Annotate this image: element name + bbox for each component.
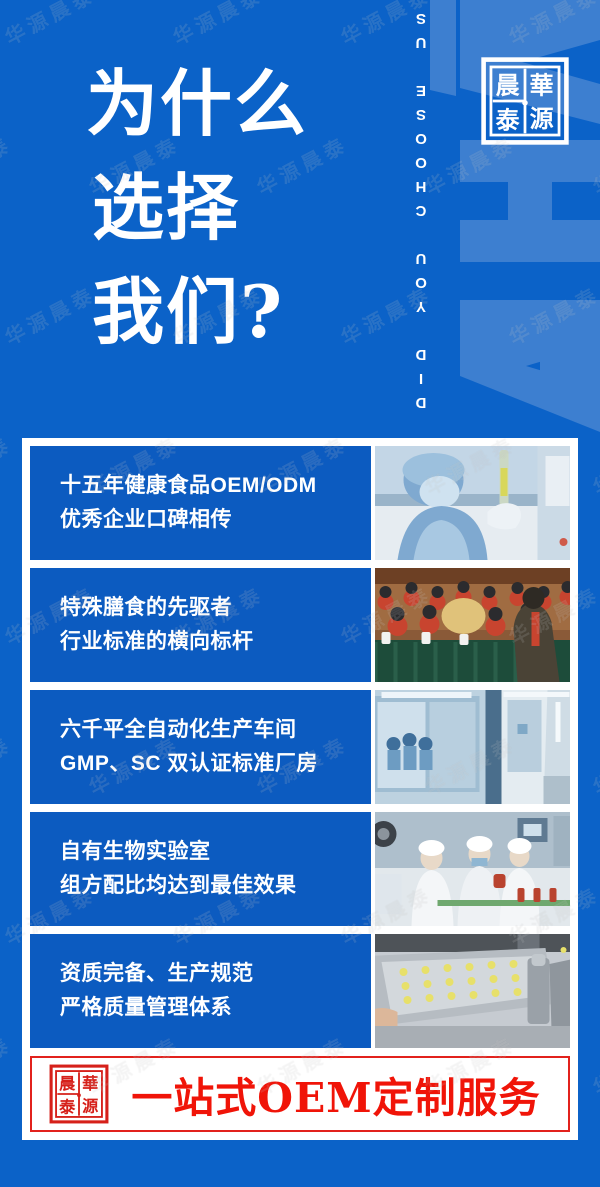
feature-row: 资质完备、生产规范 严格质量管理体系 [30, 934, 570, 1048]
watermark-text: 华源晨泰 [0, 428, 17, 501]
watermark-text: 华源晨泰 [587, 1028, 600, 1101]
feature-photo-lab-staff-packaging [375, 812, 570, 926]
page-title: 为什么 选择 我们? [86, 52, 406, 364]
feature-row: 特殊膳食的先驱者 行业标准的横向标杆 [30, 568, 570, 682]
poster-root: 为什么 选择 我们? DID YOU CHOOSE US 華 源 晨 泰 [0, 0, 600, 1187]
feature-row: 自有生物实验室 组方配比均达到最佳效果 [30, 812, 570, 926]
poster-header: 为什么 选择 我们? DID YOU CHOOSE US 華 源 晨 泰 [0, 0, 600, 438]
watermark-text: 华源晨泰 [587, 428, 600, 501]
watermark-text: 华源晨泰 [0, 1178, 101, 1187]
feature-row: 十五年健康食品OEM/ODM 优秀企业口碑相传 [30, 446, 570, 560]
company-seal-icon: 華 源 晨 泰 [479, 55, 571, 147]
feature-text-5: 资质完备、生产规范 严格质量管理体系 [30, 934, 371, 1048]
feature-photo-lab-technician [375, 446, 570, 560]
feature-line: 组方配比均达到最佳效果 [60, 869, 371, 903]
svg-text:泰: 泰 [496, 107, 521, 135]
feature-line: 十五年健康食品OEM/ODM [60, 469, 371, 503]
cta-banner-text: 一站式OEM定制服务 [110, 1064, 568, 1124]
feature-line: 严格质量管理体系 [60, 991, 371, 1025]
feature-line: GMP、SC 双认证标准厂房 [60, 747, 371, 781]
features-frame: 十五年健康食品OEM/ODM 优秀企业口碑相传 [22, 438, 578, 1140]
vertical-tagline: DID YOU CHOOSE US [404, 18, 438, 396]
feature-photo-blister-packing-machine [375, 934, 570, 1048]
headline-line-3: 我们? [86, 260, 406, 364]
feature-photo-conference-audience [375, 568, 570, 682]
feature-line: 行业标准的横向标杆 [60, 625, 371, 659]
svg-text:華: 華 [530, 72, 554, 100]
svg-text:源: 源 [82, 1096, 98, 1115]
svg-text:晨: 晨 [59, 1074, 76, 1093]
svg-text:華: 華 [82, 1074, 98, 1093]
watermark-text: 华源晨泰 [167, 1178, 269, 1187]
feature-line: 自有生物实验室 [60, 835, 371, 869]
feature-text-1: 十五年健康食品OEM/ODM 优秀企业口碑相传 [30, 446, 371, 560]
cta-banner: 華 源 晨 泰 一站式OEM定制服务 [30, 1056, 570, 1132]
feature-text-4: 自有生物实验室 组方配比均达到最佳效果 [30, 812, 371, 926]
watermark-text: 华源晨泰 [0, 728, 17, 801]
feature-line: 优秀企业口碑相传 [60, 503, 371, 537]
watermark-text: 华源晨泰 [503, 1178, 600, 1187]
feature-text-3: 六千平全自动化生产车间 GMP、SC 双认证标准厂房 [30, 690, 371, 804]
watermark-text: 华源晨泰 [587, 728, 600, 801]
feature-line: 六千平全自动化生产车间 [60, 713, 371, 747]
headline-line-2: 选择 [86, 156, 406, 260]
feature-photo-production-workshop [375, 690, 570, 804]
watermark-text: 华源晨泰 [0, 1028, 17, 1101]
svg-text:源: 源 [530, 105, 554, 133]
feature-row: 六千平全自动化生产车间 GMP、SC 双认证标准厂房 [30, 690, 570, 804]
watermark-text: 华源晨泰 [335, 1178, 437, 1187]
feature-line: 资质完备、生产规范 [60, 957, 371, 991]
svg-text:晨: 晨 [496, 72, 521, 100]
headline-line-1: 为什么 [86, 52, 406, 156]
feature-line: 特殊膳食的先驱者 [60, 591, 371, 625]
svg-text:泰: 泰 [58, 1098, 76, 1117]
company-seal-red-icon: 華 源 晨 泰 [48, 1063, 110, 1125]
feature-text-2: 特殊膳食的先驱者 行业标准的横向标杆 [30, 568, 371, 682]
